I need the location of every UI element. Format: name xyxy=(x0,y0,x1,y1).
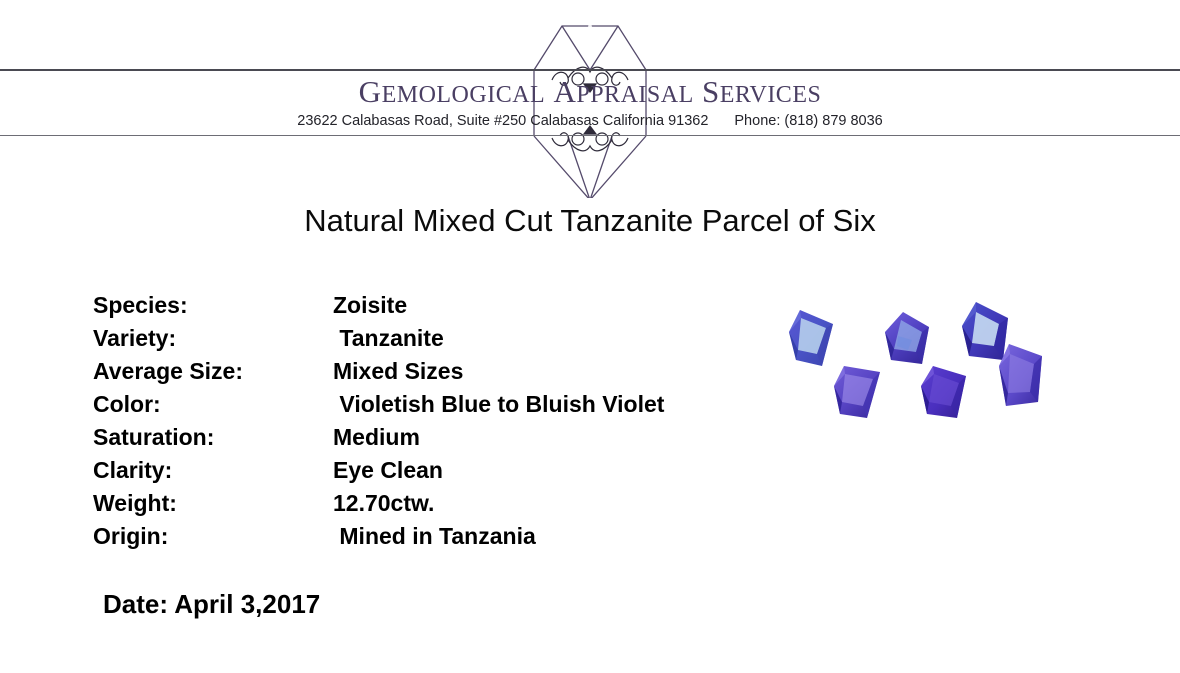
spec-label-clarity: Clarity: xyxy=(93,457,172,484)
spec-value-clarity: Eye Clean xyxy=(333,457,443,484)
spec-label-average-size: Average Size: xyxy=(93,358,243,385)
specification-list: Species: Zoisite Variety: Tanzanite Aver… xyxy=(93,292,793,556)
wordmark-ppraisal: PPRAISAL xyxy=(576,82,693,108)
contact-line: 23622 Calabasas Road, Suite #250 Calabas… xyxy=(0,113,1180,129)
gem-stone-6 xyxy=(921,366,966,418)
spec-row-color: Color: Violetish Blue to Bluish Violet xyxy=(93,391,793,424)
company-address: 23622 Calabasas Road, Suite #250 Calabas… xyxy=(297,113,708,129)
appraisal-date: Date: April 3,2017 xyxy=(103,589,320,620)
wordmark-s: S xyxy=(702,74,720,109)
tanzanite-parcel-photo xyxy=(770,288,1070,453)
company-phone: Phone: (818) 879 8036 xyxy=(734,113,882,129)
spec-value-average-size: Mixed Sizes xyxy=(333,358,463,385)
spec-label-variety: Variety: xyxy=(93,325,176,352)
spec-label-origin: Origin: xyxy=(93,523,168,550)
wordmark-emological: EMOLOGICAL xyxy=(382,82,546,108)
appraisal-document: GEMOLOGICAL APPRAISAL SERVICES 23622 Cal… xyxy=(0,0,1180,673)
letterhead: GEMOLOGICAL APPRAISAL SERVICES 23622 Cal… xyxy=(0,0,1180,200)
spec-row-weight: Weight: 12.70ctw. xyxy=(93,490,793,523)
header-rule-bottom xyxy=(0,135,1180,136)
spec-value-variety: Tanzanite xyxy=(333,325,444,352)
spec-row-species: Species: Zoisite xyxy=(93,292,793,325)
wordmark-g: G xyxy=(359,74,382,109)
gem-stone-1 xyxy=(789,310,833,366)
gem-stone-3 xyxy=(962,302,1008,360)
wordmark-a: A xyxy=(553,74,576,109)
spec-label-saturation: Saturation: xyxy=(93,424,214,451)
spec-row-origin: Origin: Mined in Tanzania xyxy=(93,523,793,556)
spec-row-variety: Variety: Tanzanite xyxy=(93,325,793,358)
spec-value-saturation: Medium xyxy=(333,424,420,451)
company-wordmark: GEMOLOGICAL APPRAISAL SERVICES xyxy=(0,76,1180,107)
gem-stone-5 xyxy=(834,366,880,418)
gem-stone-4 xyxy=(999,344,1042,406)
spec-row-clarity: Clarity: Eye Clean xyxy=(93,457,793,490)
gem-stone-2 xyxy=(885,312,929,364)
spec-value-origin: Mined in Tanzania xyxy=(333,523,536,550)
spec-label-weight: Weight: xyxy=(93,490,177,517)
spec-value-color: Violetish Blue to Bluish Violet xyxy=(333,391,664,418)
spec-row-saturation: Saturation: Medium xyxy=(93,424,793,457)
spec-value-weight: 12.70ctw. xyxy=(333,490,434,517)
header-rule-top xyxy=(0,69,1180,71)
page-title: Natural Mixed Cut Tanzanite Parcel of Si… xyxy=(0,203,1180,239)
wordmark-ervices: ERVICES xyxy=(720,82,822,108)
spec-row-average-size: Average Size: Mixed Sizes xyxy=(93,358,793,391)
spec-label-species: Species: xyxy=(93,292,188,319)
spec-label-color: Color: xyxy=(93,391,161,418)
spec-value-species: Zoisite xyxy=(333,292,407,319)
